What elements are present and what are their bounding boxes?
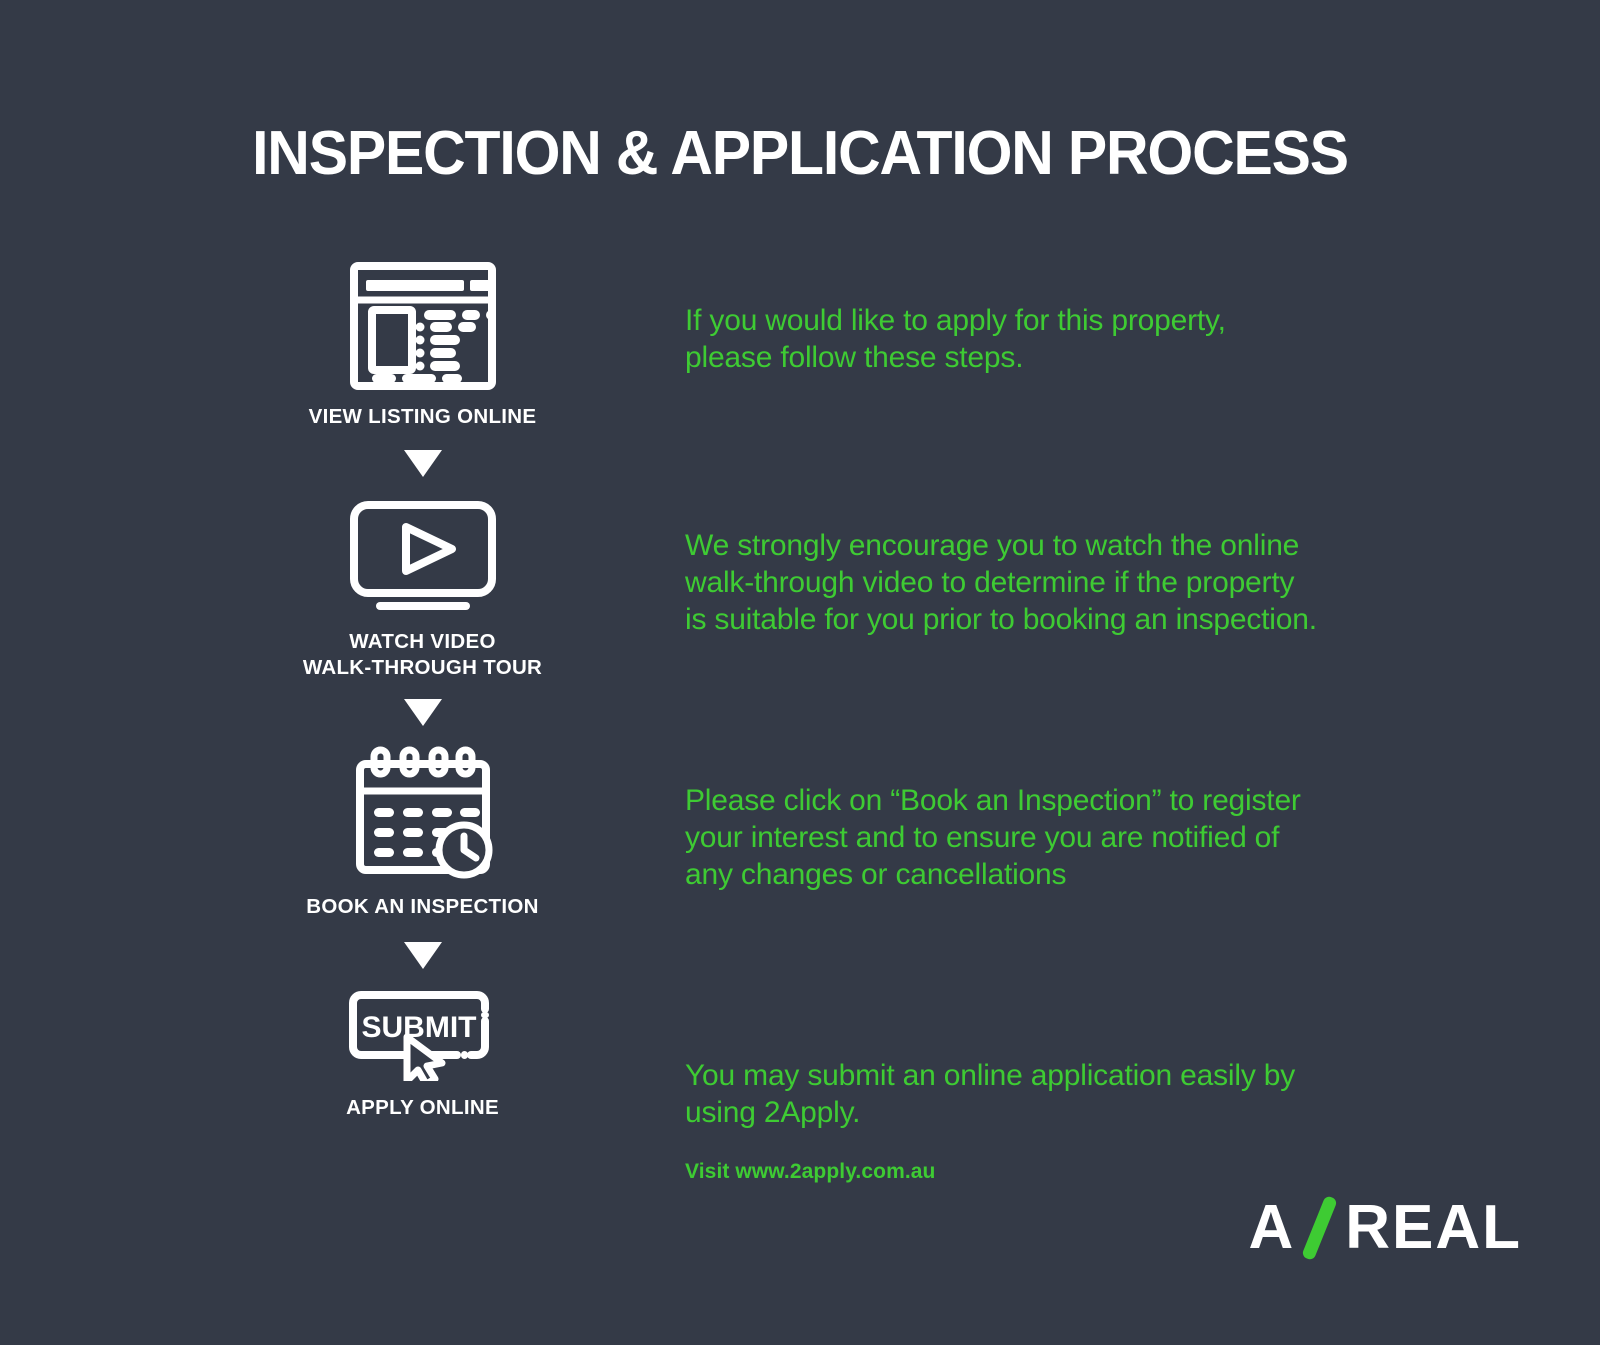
logo-slash-icon <box>1297 1197 1343 1259</box>
copy-video: We strongly encourage you to watch the o… <box>685 527 1430 638</box>
step-apply-online: SUBMIT APPLY ONLINE <box>275 989 570 1121</box>
copy-intro: If you would like to apply for this prop… <box>685 302 1425 376</box>
step-book-inspection: BOOK AN INSPECTION <box>275 746 570 920</box>
step-watch-video: WATCH VIDEO WALK-THROUGH TOUR <box>275 499 570 681</box>
step-label: BOOK AN INSPECTION <box>275 894 570 920</box>
video-play-monitor-icon <box>275 499 570 615</box>
logo-word-real: REAL <box>1345 1197 1522 1259</box>
submit-button-cursor-icon: SUBMIT <box>275 989 570 1081</box>
brand-logo: A REAL <box>1248 1195 1522 1261</box>
copy-apply: You may submit an online application eas… <box>685 1057 1395 1131</box>
browser-listing-icon <box>275 262 570 390</box>
step-label: VIEW LISTING ONLINE <box>275 404 570 430</box>
copy-inspection: Please click on “Book an Inspection” to … <box>685 782 1405 893</box>
submit-icon-text: SUBMIT <box>361 1011 476 1044</box>
flow-arrow-down-icon <box>275 450 570 477</box>
process-flow: VIEW LISTING ONLINE WATCH VIDEO WALK-THR… <box>275 262 570 1121</box>
step-label: APPLY ONLINE <box>275 1095 570 1121</box>
flow-arrow-down-icon <box>275 942 570 969</box>
step-view-listing-online: VIEW LISTING ONLINE <box>275 262 570 430</box>
calendar-clock-icon <box>275 746 570 880</box>
page-title: INSPECTION & APPLICATION PROCESS <box>40 118 1560 189</box>
step-label: WATCH VIDEO WALK-THROUGH TOUR <box>275 629 570 681</box>
infographic-poster: INSPECTION & APPLICATION PROCESS <box>0 0 1600 1345</box>
flow-arrow-down-icon <box>275 699 570 726</box>
logo-letter-a: A <box>1248 1197 1295 1259</box>
visit-link[interactable]: Visit www.2apply.com.au <box>685 1160 936 1184</box>
